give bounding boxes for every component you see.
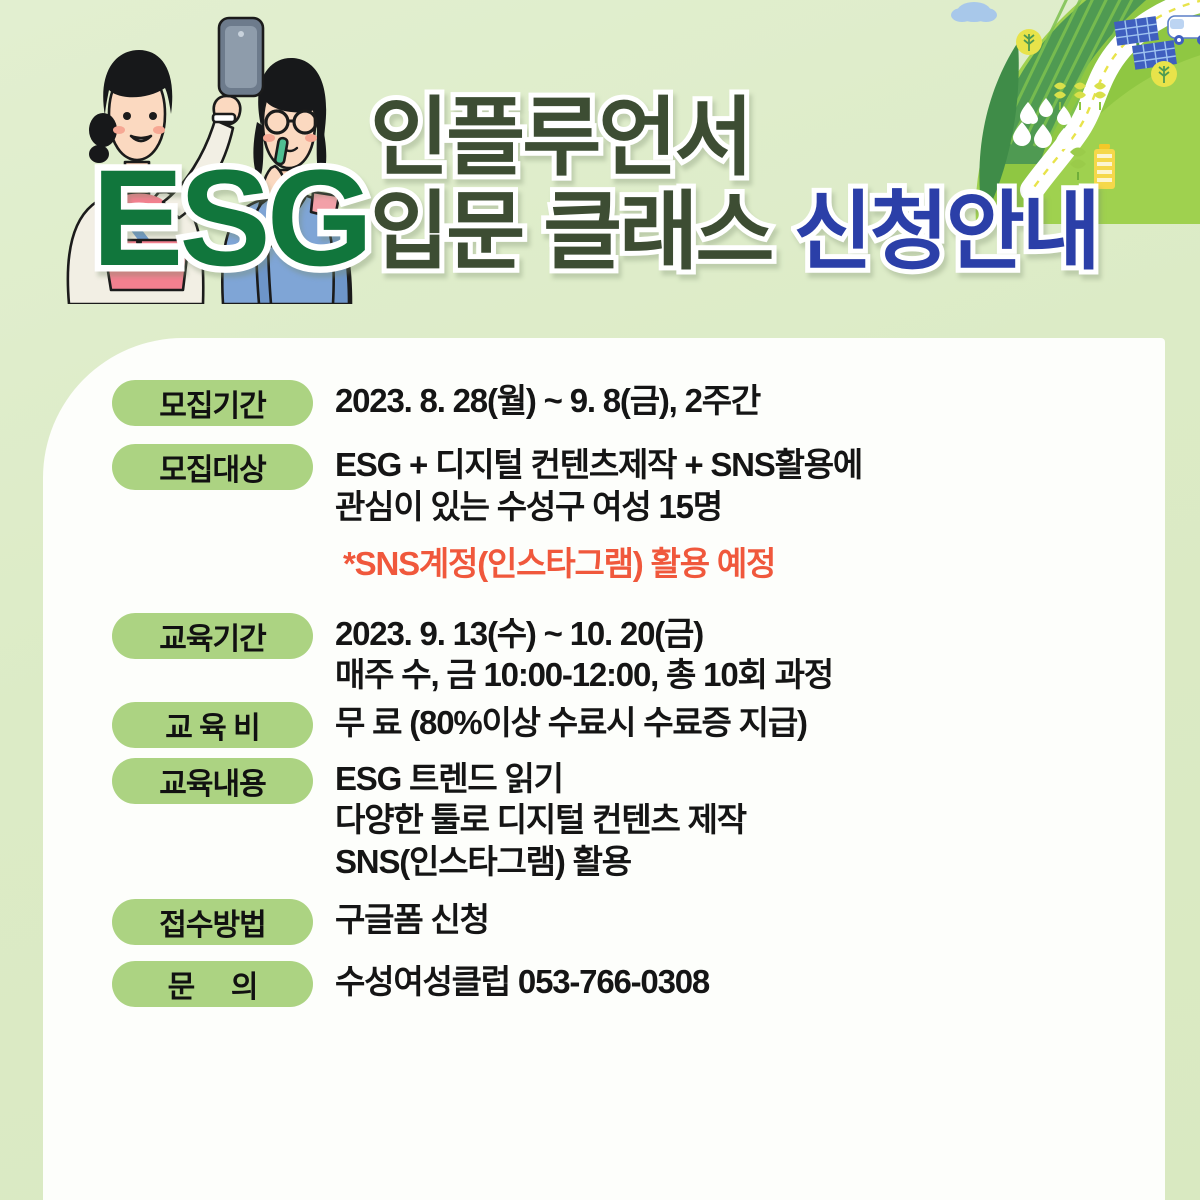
info-card: 모집기간2023. 8. 28(월) ~ 9. 8(금), 2주간모집대상ESG…: [43, 338, 1165, 1200]
info-row: 모집기간2023. 8. 28(월) ~ 9. 8(금), 2주간: [112, 380, 1152, 426]
headline-line-2: 입문 클래스: [370, 186, 772, 280]
info-row-list: 모집기간2023. 8. 28(월) ~ 9. 8(금), 2주간모집대상ESG…: [112, 380, 1152, 1007]
info-row: 교육기간2023. 9. 13(수) ~ 10. 20(금)매주 수, 금 10…: [112, 613, 1152, 696]
row-value-line: 구글폼 신청: [335, 899, 489, 941]
row-values: 2023. 9. 13(수) ~ 10. 20(금)매주 수, 금 10:00-…: [335, 613, 833, 696]
row-label-pill: 교육내용: [112, 758, 313, 804]
row-value-line: 관심이 있는 수성구 여성 15명: [335, 486, 862, 528]
poster-headline: 인플루언서 입문 클래스 신청안내: [370, 92, 1098, 279]
esg-wordmark: ESG: [92, 150, 369, 287]
row-label-pill: 교 육 비: [112, 702, 313, 748]
row-value-line: 다양한 툴로 디지털 컨텐츠 제작: [335, 799, 746, 841]
row-value-line: 2023. 9. 13(수) ~ 10. 20(금): [335, 613, 833, 655]
row-value-line: 무 료 (80%이상 수료시 수료증 지급): [335, 702, 807, 744]
row-value-line: 수성여성클럽 053-766-0308: [335, 961, 709, 1003]
headline-line-1: 인플루언서: [370, 92, 751, 186]
row-values: ESG 트렌드 읽기다양한 툴로 디지털 컨텐츠 제작SNS(인스타그램) 활용: [335, 758, 746, 883]
headline-accent: 신청안내: [794, 186, 1098, 280]
row-label-pill: 문 의: [112, 961, 313, 1007]
row-value-line: ESG + 디지털 컨텐츠제작 + SNS활용에: [335, 444, 862, 486]
row-label-pill: 접수방법: [112, 899, 313, 945]
row-values: 무 료 (80%이상 수료시 수료증 지급): [335, 702, 807, 744]
row-label-pill: 모집기간: [112, 380, 313, 426]
info-row: 교 육 비무 료 (80%이상 수료시 수료증 지급): [112, 702, 1152, 748]
info-row: 접수방법구글폼 신청: [112, 899, 1152, 945]
cloud-icon: [951, 2, 997, 22]
row-label-pill: 모집대상: [112, 444, 313, 490]
headline-row-2: 입문 클래스 신청안내: [370, 186, 1098, 280]
headline-row-1: 인플루언서: [370, 92, 1098, 186]
row-note-line: *SNS계정(인스타그램) 활용 예정: [343, 543, 862, 585]
info-row: 교육내용ESG 트렌드 읽기다양한 툴로 디지털 컨텐츠 제작SNS(인스타그램…: [112, 758, 1152, 883]
row-values: 수성여성클럽 053-766-0308: [335, 961, 709, 1003]
row-values: ESG + 디지털 컨텐츠제작 + SNS활용에관심이 있는 수성구 여성 15…: [335, 444, 862, 585]
row-value-line: 2023. 8. 28(월) ~ 9. 8(금), 2주간: [335, 380, 760, 422]
row-label-pill: 교육기간: [112, 613, 313, 659]
row-values: 2023. 8. 28(월) ~ 9. 8(금), 2주간: [335, 380, 760, 422]
row-value-line: SNS(인스타그램) 활용: [335, 841, 746, 883]
row-value-line: 매주 수, 금 10:00-12:00, 총 10회 과정: [335, 654, 833, 696]
info-row: 모집대상ESG + 디지털 컨텐츠제작 + SNS활용에관심이 있는 수성구 여…: [112, 444, 1152, 585]
row-value-line: ESG 트렌드 읽기: [335, 758, 746, 800]
row-values: 구글폼 신청: [335, 899, 489, 941]
poster-canvas: ESG 인플루언서 입문 클래스 신청안내 모집기간2023. 8. 28(월)…: [0, 0, 1200, 1200]
info-row: 문 의수성여성클럽 053-766-0308: [112, 961, 1152, 1007]
